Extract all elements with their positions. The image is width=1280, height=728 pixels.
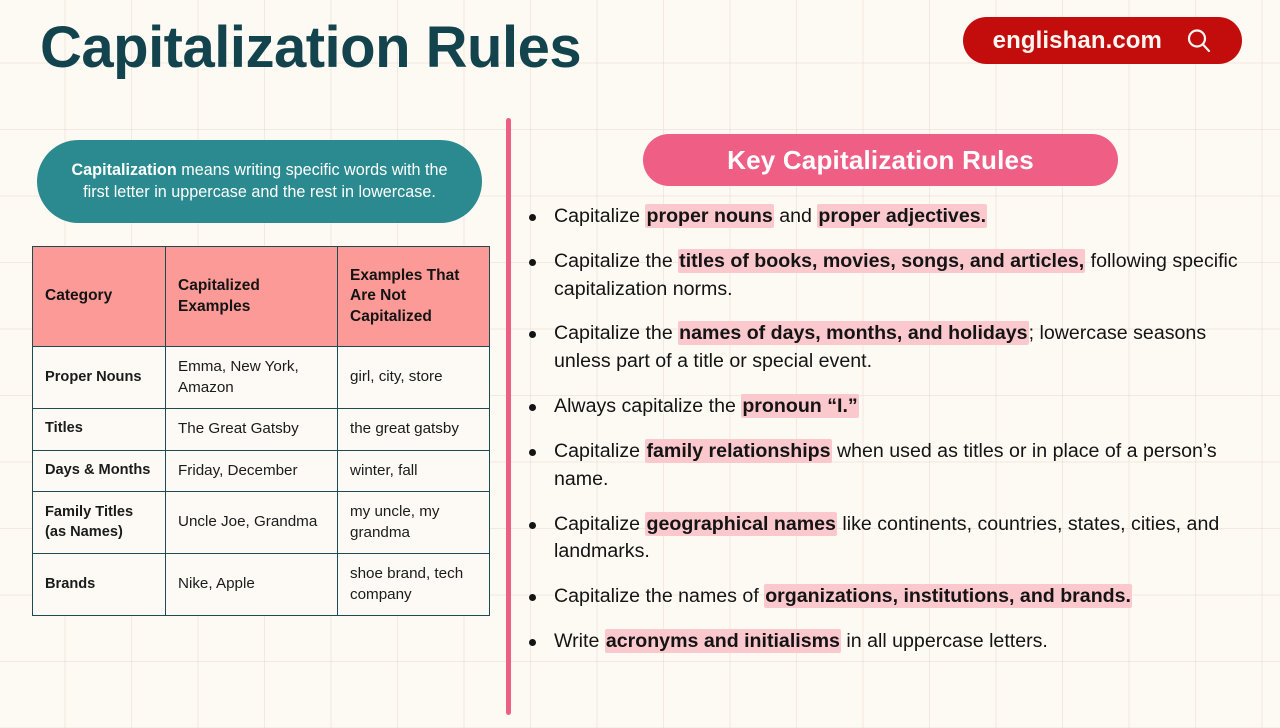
list-item: Always capitalize the pronoun “I.”: [528, 393, 1264, 421]
cell-not-capitalized: winter, fall: [338, 450, 490, 492]
rule-highlight: names of days, months, and holidays: [678, 321, 1028, 345]
infographic-page: Capitalization Rules englishan.com Capit…: [0, 0, 1280, 728]
rule-highlight: geographical names: [645, 512, 836, 536]
cell-capitalized: The Great Gatsby: [166, 409, 338, 451]
table-row: Titles The Great Gatsby the great gatsby: [33, 409, 490, 451]
column-header-category: Category: [33, 247, 166, 347]
list-item: Capitalize family relationships when use…: [528, 438, 1264, 494]
page-title: Capitalization Rules: [40, 16, 581, 80]
site-logo-label: englishan.com: [993, 27, 1162, 55]
rule-highlight: proper nouns: [645, 204, 773, 228]
cell-capitalized: Uncle Joe, Grandma: [166, 492, 338, 554]
rule-text: Capitalize the names of: [554, 585, 764, 607]
cell-category: Brands: [33, 554, 166, 616]
rule-text: Capitalize: [554, 513, 645, 535]
key-rules-heading: Key Capitalization Rules: [643, 134, 1118, 186]
cell-category: Proper Nouns: [33, 347, 166, 409]
cell-category: Family Titles (as Names): [33, 492, 166, 554]
column-header-capitalized: Capitalized Examples: [166, 247, 338, 347]
rule-highlight: family relationships: [645, 439, 831, 463]
list-item: Write acronyms and initialisms in all up…: [528, 628, 1264, 656]
list-item: Capitalize the titles of books, movies, …: [528, 248, 1264, 304]
table-header: Category Capitalized Examples Examples T…: [33, 247, 490, 347]
cell-capitalized: Nike, Apple: [166, 554, 338, 616]
cell-capitalized: Friday, December: [166, 450, 338, 492]
table-row: Brands Nike, Apple shoe brand, tech comp…: [33, 554, 490, 616]
definition-callout: Capitalization means writing specific wo…: [37, 140, 482, 223]
rule-highlight: acronyms and initialisms: [605, 629, 841, 653]
rule-text: Write: [554, 630, 605, 652]
rule-highlight: titles of books, movies, songs, and arti…: [678, 249, 1085, 273]
capitalization-table: Category Capitalized Examples Examples T…: [32, 246, 490, 616]
cell-capitalized: Emma, New York, Amazon: [166, 347, 338, 409]
list-item: Capitalize the names of days, months, an…: [528, 320, 1264, 376]
rule-text: Capitalize the: [554, 322, 678, 344]
list-item: Capitalize the names of organizations, i…: [528, 583, 1264, 611]
cell-not-capitalized: my uncle, my grandma: [338, 492, 490, 554]
rule-highlight: organizations, institutions, and brands.: [764, 584, 1132, 608]
rule-text: and: [774, 205, 818, 227]
table-row: Days & Months Friday, December winter, f…: [33, 450, 490, 492]
list-item: Capitalize geographical names like conti…: [528, 511, 1264, 567]
key-rules-list: Capitalize proper nouns and proper adjec…: [528, 203, 1264, 673]
cell-not-capitalized: girl, city, store: [338, 347, 490, 409]
table-header-row: Category Capitalized Examples Examples T…: [33, 247, 490, 347]
list-item: Capitalize proper nouns and proper adjec…: [528, 203, 1264, 231]
table-row: Proper Nouns Emma, New York, Amazon girl…: [33, 347, 490, 409]
cell-category: Days & Months: [33, 450, 166, 492]
rule-text: Capitalize the: [554, 250, 678, 272]
site-logo-badge[interactable]: englishan.com: [963, 17, 1242, 64]
column-divider: [506, 118, 511, 715]
cell-not-capitalized: the great gatsby: [338, 409, 490, 451]
definition-term: Capitalization: [71, 161, 176, 179]
key-rules-heading-label: Key Capitalization Rules: [727, 145, 1034, 176]
rule-highlight: proper adjectives.: [817, 204, 987, 228]
search-icon[interactable]: [1184, 26, 1214, 56]
column-header-not-capitalized: Examples That Are Not Capitalized: [338, 247, 490, 347]
cell-not-capitalized: shoe brand, tech company: [338, 554, 490, 616]
cell-category: Titles: [33, 409, 166, 451]
rule-text: Always capitalize the: [554, 395, 741, 417]
table-row: Family Titles (as Names) Uncle Joe, Gran…: [33, 492, 490, 554]
table-body: Proper Nouns Emma, New York, Amazon girl…: [33, 347, 490, 616]
rule-text: Capitalize: [554, 205, 645, 227]
definition-callout-text: Capitalization means writing specific wo…: [67, 160, 452, 204]
rule-text: in all uppercase letters.: [841, 630, 1048, 652]
rule-text: Capitalize: [554, 440, 645, 462]
rule-highlight: pronoun “I.”: [741, 394, 858, 418]
